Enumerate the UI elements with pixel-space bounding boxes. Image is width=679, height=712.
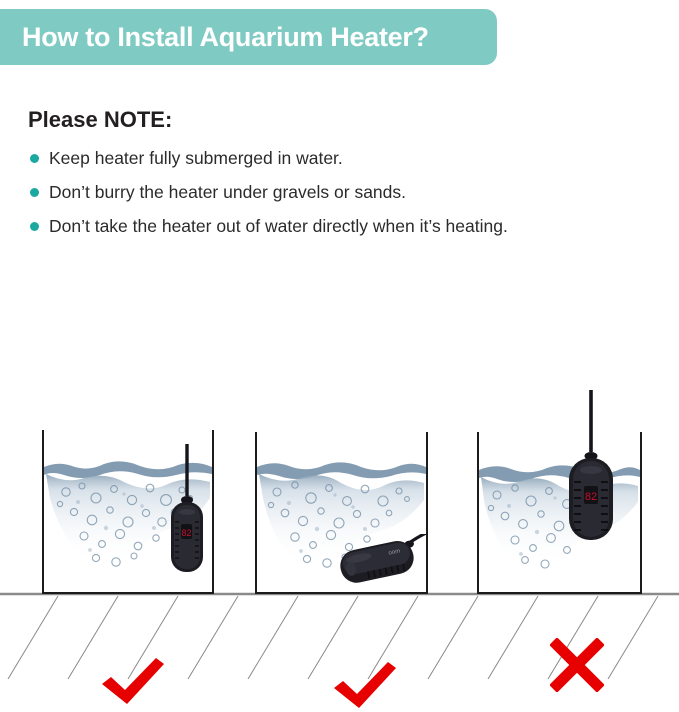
list-item: Don’t burry the heater under gravels or … (30, 181, 650, 203)
note-text: Don’t burry the heater under gravels or … (49, 181, 406, 203)
tank-floor (255, 592, 428, 594)
svg-text:82: 82 (181, 528, 191, 538)
bullet-icon (30, 222, 39, 231)
list-item: Don’t take the heater out of water direc… (30, 215, 650, 237)
cross-mark-icon (550, 638, 604, 692)
check-mark-icon-2 (330, 660, 400, 712)
notes-list: Keep heater fully submerged in water. Do… (30, 147, 650, 249)
page-title: How to Install Aquarium Heater? (0, 22, 429, 53)
illustration-area: 82 (0, 300, 679, 679)
bullet-icon (30, 188, 39, 197)
heater-device-on-bottom: oom (331, 534, 437, 592)
tank-panel-2: oom (255, 432, 428, 594)
tank-floor (42, 592, 214, 594)
tank-floor (477, 592, 642, 594)
tank-wall-right (640, 432, 642, 594)
svg-text:82: 82 (585, 491, 597, 503)
list-item: Keep heater fully submerged in water. (30, 147, 650, 169)
heater-device-above-water: 82 (561, 390, 621, 550)
tank-wall-right (212, 430, 214, 594)
bullet-icon (30, 154, 39, 163)
notes-heading: Please NOTE: (28, 107, 172, 133)
check-mark-icon-1 (98, 656, 168, 708)
note-text: Don’t take the heater out of water direc… (49, 215, 508, 237)
header-banner: How to Install Aquarium Heater? (0, 9, 497, 65)
heater-device-submerged: 82 (162, 444, 212, 576)
tank-panel-3: 82 (477, 432, 642, 594)
note-text: Keep heater fully submerged in water. (49, 147, 343, 169)
tank-panel-1: 82 (42, 430, 214, 594)
